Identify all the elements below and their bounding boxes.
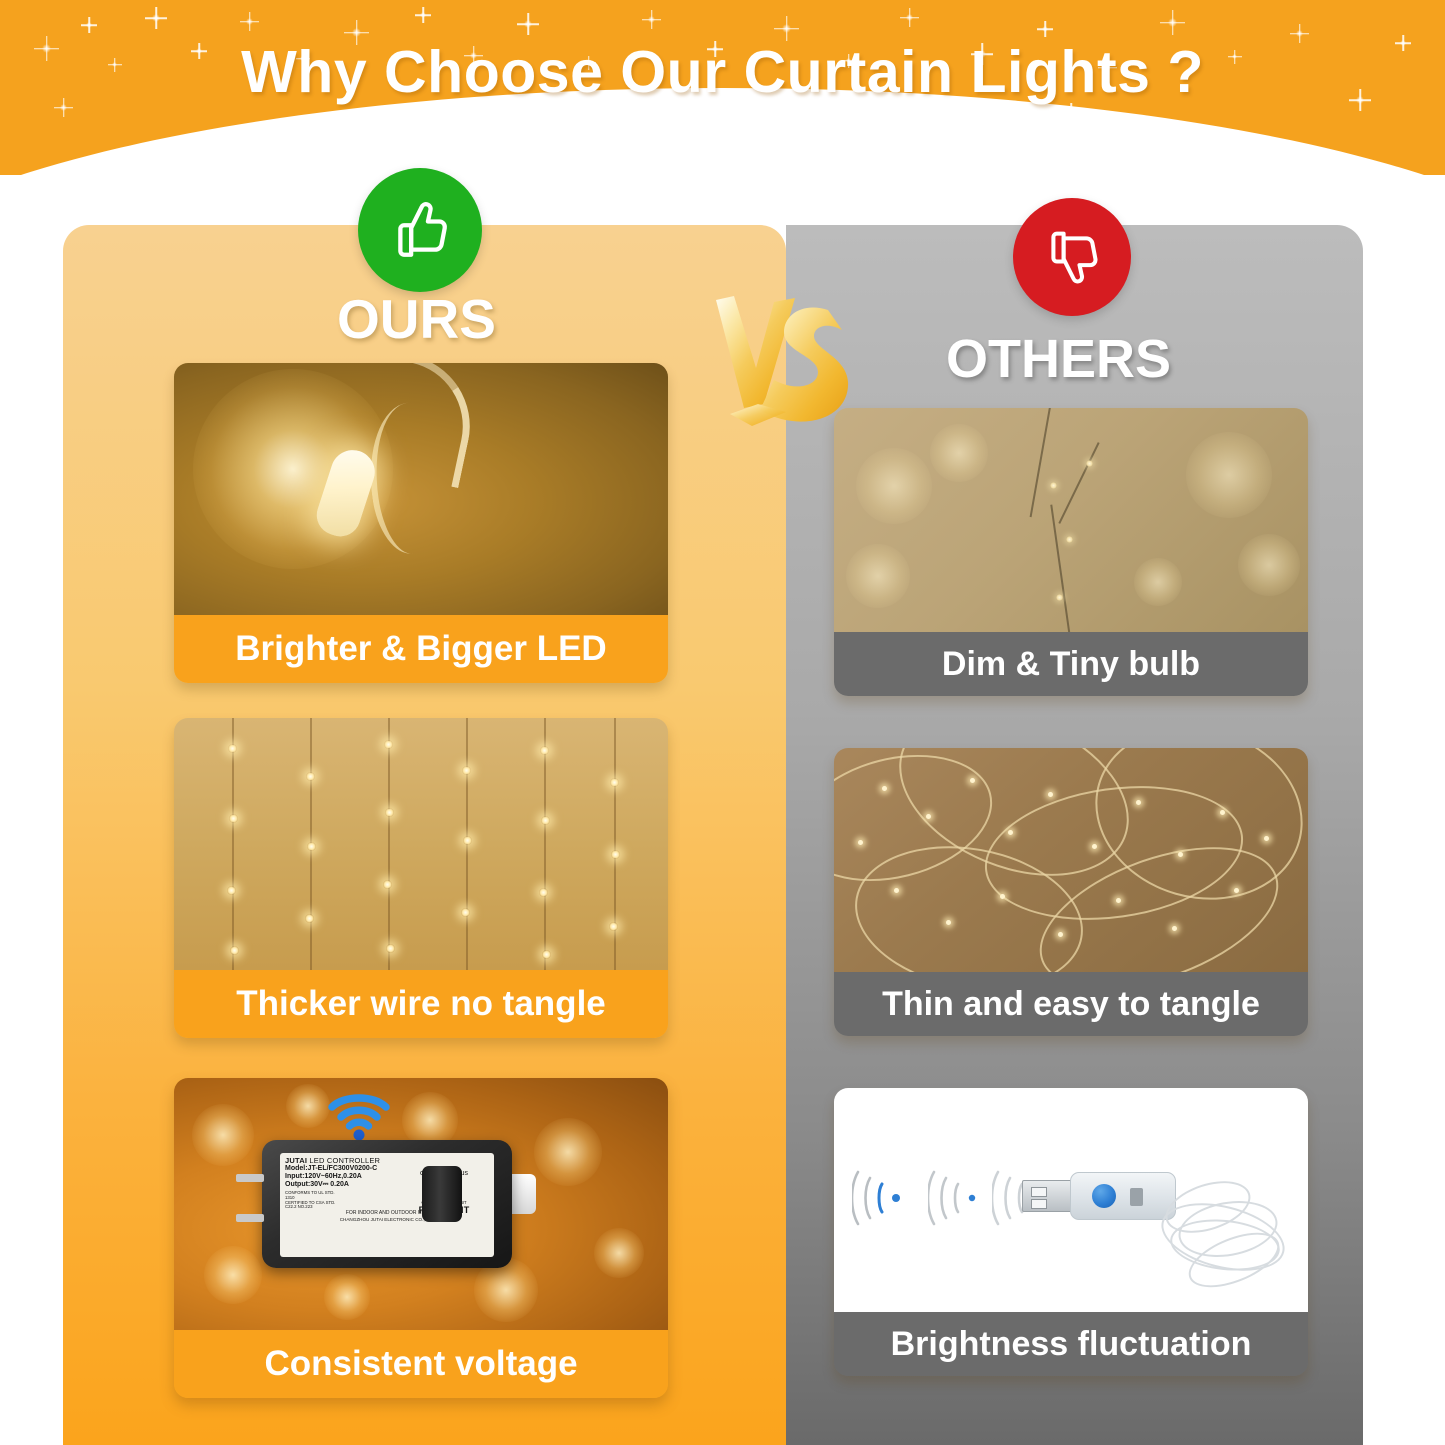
thin-wire [1030, 408, 1053, 517]
light-dot [385, 808, 394, 817]
tiny-bulb [1048, 792, 1053, 797]
bokeh-light [1134, 558, 1182, 606]
bokeh-light [594, 1228, 644, 1278]
led-controller-adapter-photo: JUTAI LED CONTROLLER Model:JT-EL/FC300V0… [174, 1078, 668, 1330]
sparkle-icon [1296, 30, 1303, 37]
wifi-icon [326, 1090, 392, 1142]
ours-card-1: Brighter & Bigger LED [174, 363, 668, 683]
bokeh-light [846, 544, 910, 608]
card-caption: Dim & Tiny bulb [834, 632, 1308, 696]
usb-power-button [1092, 1184, 1116, 1208]
light-dot [611, 850, 620, 859]
light-dot [383, 880, 392, 889]
bokeh-light [324, 1274, 370, 1320]
sparkle-icon [1168, 18, 1177, 27]
bokeh-light [930, 424, 988, 482]
tiny-bulb [946, 920, 951, 925]
signal-waves-icon [852, 1166, 914, 1235]
light-dot [541, 816, 550, 825]
light-strand [614, 718, 616, 970]
thumbs-up-icon [358, 168, 482, 292]
tiny-bulb [1220, 810, 1225, 815]
light-dot [306, 772, 315, 781]
usb-controller-photo [834, 1088, 1308, 1312]
others-label: OTHERS [946, 328, 1171, 390]
bokeh-light [192, 1104, 254, 1166]
card-caption: Consistent voltage [174, 1330, 668, 1398]
light-dot [384, 740, 393, 749]
dim-tiny-bulbs-photo [834, 408, 1308, 632]
bokeh-light [856, 448, 932, 524]
tiny-bulb [1234, 888, 1239, 893]
bokeh-light [534, 1118, 602, 1186]
sparkle-icon [906, 14, 913, 21]
adapter-knob [422, 1166, 462, 1222]
tiny-bulb [1000, 894, 1005, 899]
plug-prong [236, 1214, 264, 1222]
sparkle-icon [352, 28, 361, 37]
light-dot [461, 908, 470, 917]
sparkle-icon [648, 16, 655, 23]
tiny-bulb [1086, 460, 1093, 467]
tangled-thin-wires-photo [834, 748, 1308, 972]
tiny-bulb [970, 778, 975, 783]
light-dot [462, 766, 471, 775]
light-dot [610, 778, 619, 787]
card-caption: Brighter & Bigger LED [174, 615, 668, 683]
light-dot [305, 914, 314, 923]
sparkle-icon [246, 18, 253, 25]
light-dot [540, 746, 549, 755]
light-dot [307, 842, 316, 851]
sparkle-icon [86, 22, 92, 28]
light-dot [227, 886, 236, 895]
tiny-bulb [1178, 852, 1183, 857]
light-dot [386, 944, 395, 953]
signal-waves-icon [928, 1166, 990, 1235]
others-card-3: Brightness fluctuation [834, 1088, 1308, 1376]
infographic-root: Why Choose Our Curtain Lights ? OURS OTH… [0, 0, 1445, 1445]
tiny-bulb [926, 814, 931, 819]
card-caption: Thin and easy to tangle [834, 972, 1308, 1036]
light-dot [228, 744, 237, 753]
light-dot [539, 888, 548, 897]
tiny-bulb [1092, 844, 1097, 849]
usb-controller-body [1070, 1172, 1176, 1220]
tiny-bulb [1116, 898, 1121, 903]
led-controller-adapter: JUTAI LED CONTROLLER Model:JT-EL/FC300V0… [262, 1140, 512, 1268]
ours-card-2: Thicker wire no tangle [174, 718, 668, 1038]
light-dot [463, 836, 472, 845]
tiny-bulb [1264, 836, 1269, 841]
tiny-bulb [1066, 536, 1073, 543]
label-title: LED CONTROLLER [309, 1156, 380, 1165]
sparkle-icon [782, 24, 791, 33]
card-caption: Brightness fluctuation [834, 1312, 1308, 1376]
label-brand: JUTAI [285, 1156, 307, 1165]
tiny-bulb [1056, 594, 1063, 601]
bokeh-light [1186, 432, 1272, 518]
others-card-2: Thin and easy to tangle [834, 748, 1308, 1036]
header-banner: Why Choose Our Curtain Lights ? [0, 0, 1445, 175]
sparkle-icon [420, 12, 426, 18]
light-dot [230, 946, 239, 955]
ours-card-3: JUTAI LED CONTROLLER Model:JT-EL/FC300V0… [174, 1078, 668, 1398]
tiny-bulb [894, 888, 899, 893]
light-strand [232, 718, 234, 970]
tiny-bulb [882, 786, 887, 791]
bokeh-light [286, 1084, 330, 1128]
light-strand [388, 718, 390, 970]
tiny-bulb [1058, 932, 1063, 937]
light-strand [544, 718, 546, 970]
tiny-bulb [858, 840, 863, 845]
light-dot [609, 922, 618, 931]
page-title: Why Choose Our Curtain Lights ? [0, 38, 1445, 106]
thumbs-down-icon [1013, 198, 1131, 316]
tiny-bulb [1136, 800, 1141, 805]
usb-connector [1022, 1180, 1074, 1212]
light-dot [229, 814, 238, 823]
curtain-lights-grid-photo [174, 718, 668, 970]
sparkle-icon [1042, 26, 1048, 32]
thin-wire [1050, 505, 1071, 632]
sparkle-icon [152, 14, 160, 22]
ours-label: OURS [337, 287, 496, 351]
bokeh-light [204, 1246, 262, 1304]
card-caption: Thicker wire no tangle [174, 970, 668, 1038]
large-warm-led-bulb-photo [174, 363, 668, 615]
tiny-bulb [1050, 482, 1057, 489]
vs-graphic [700, 282, 865, 452]
sparkle-icon [524, 20, 532, 28]
light-dot [542, 950, 551, 959]
plug-prong [236, 1174, 264, 1182]
tiny-bulb [1008, 830, 1013, 835]
thin-wire [1058, 442, 1099, 524]
usb-switch [1130, 1188, 1143, 1206]
others-card-1: Dim & Tiny bulb [834, 408, 1308, 696]
tiny-bulb [1172, 926, 1177, 931]
bokeh-light [1238, 534, 1300, 596]
